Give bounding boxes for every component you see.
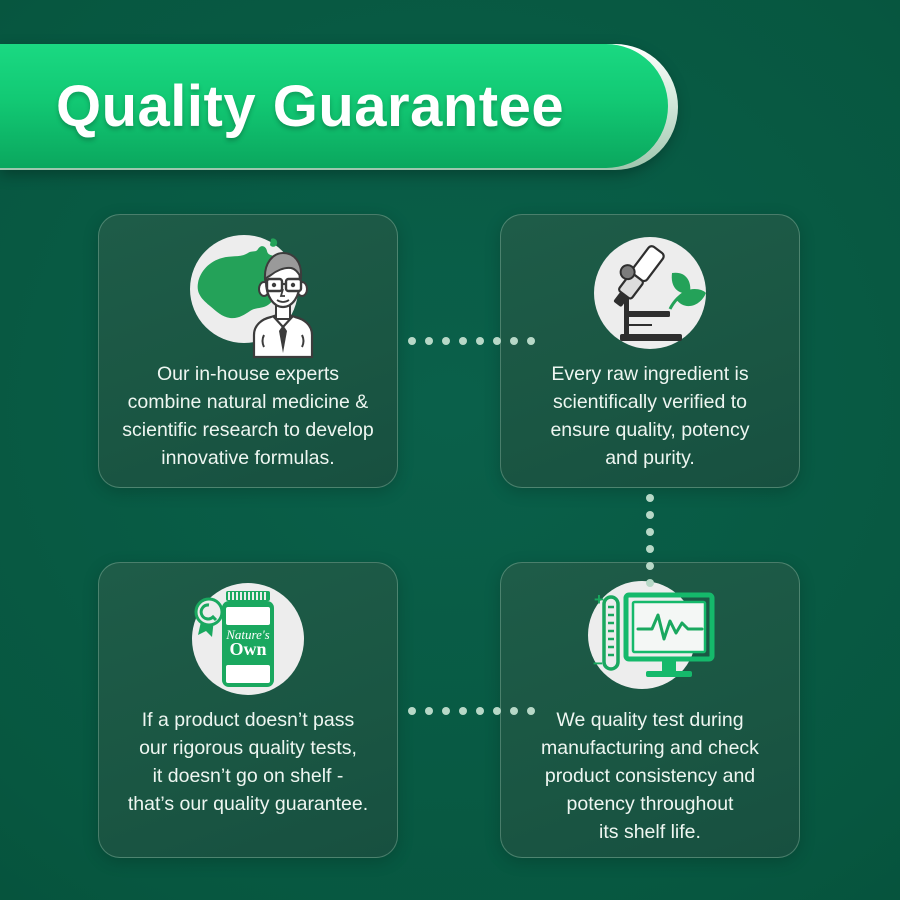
monitor-ecg-thermometer-icon: + − [580,577,720,707]
connector-dot [646,511,654,519]
connector-dot [493,707,501,715]
card-raw-ingredient-verification[interactable]: Every raw ingredient is scientifically v… [500,214,800,488]
connector-dot [510,337,518,345]
supplement-bottle-award-icon: Nature's Own [178,577,318,707]
connector-dot [425,337,433,345]
connector-dot [527,707,535,715]
card-manufacturing-consistency[interactable]: + − We quality test during manufacturing… [500,562,800,858]
connector-dot [646,494,654,502]
card-text: Every raw ingredient is scientifically v… [534,361,765,489]
connector-dot [510,707,518,715]
page-title: Quality Guarantee [56,73,564,140]
connector-dot [493,337,501,345]
header-banner: Quality Guarantee [0,44,680,170]
connector-dot [646,528,654,536]
connector-top-horizontal [408,337,535,345]
connector-dot [476,337,484,345]
connector-dot [527,337,535,345]
connector-dot [442,337,450,345]
connector-dot [459,707,467,715]
thermometer-minus-label: − [593,654,603,673]
connector-bottom-horizontal [408,707,535,715]
connector-dot [646,545,654,553]
card-text: We quality test during manufacturing and… [525,707,775,862]
connector-dot [442,707,450,715]
connector-dot [408,337,416,345]
connector-dot [646,562,654,570]
card-quality-testing-shelf[interactable]: Nature's Own If a product doesn’t pass o… [98,562,398,858]
connector-dot [476,707,484,715]
banner-body: Quality Guarantee [0,44,668,168]
connector-dot [425,707,433,715]
connector-dot [408,707,416,715]
connector-dot [459,337,467,345]
connector-dot [646,579,654,587]
infographic-page: Quality Guarantee [0,0,900,900]
card-text: Our in-house experts combine natural med… [106,361,389,489]
connector-right-vertical [646,494,654,587]
thermometer-plus-label: + [594,590,604,609]
card-text: If a product doesn’t pass our rigorous q… [112,707,384,835]
card-in-house-experts[interactable]: Our in-house experts combine natural med… [98,214,398,488]
bottle-label-line2: Own [229,639,266,659]
scientist-australia-map-icon [178,231,318,361]
microscope-leaf-icon [580,231,720,361]
